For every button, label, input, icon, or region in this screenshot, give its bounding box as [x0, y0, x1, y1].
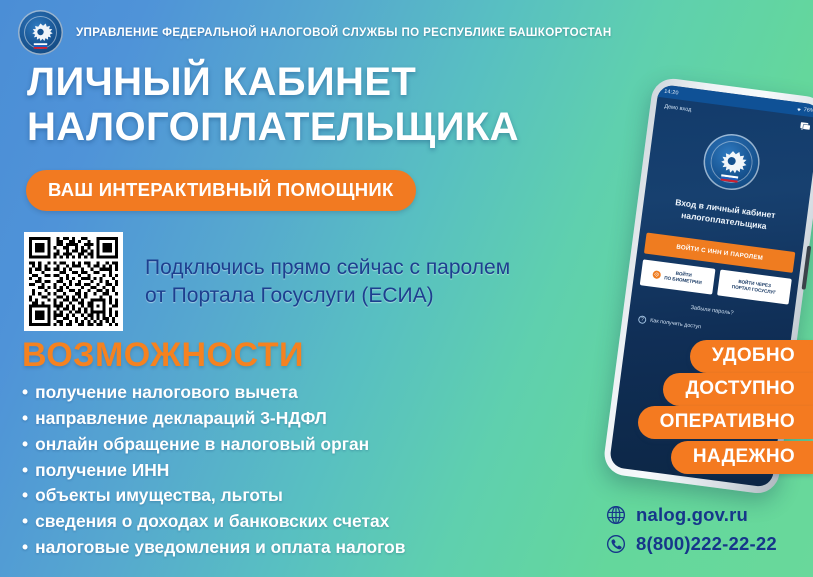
question-mark-icon: ?: [638, 315, 647, 324]
invite-text: Подключись прямо сейчас с паролем от Пор…: [145, 254, 510, 309]
list-item: получение ИНН: [22, 458, 406, 484]
website-row[interactable]: nalog.gov.ru: [606, 504, 777, 526]
phone-label: 8(800)222-22-22: [636, 533, 777, 555]
biometry-line-2: ПО БИОМЕТРИИ: [664, 275, 702, 285]
globe-icon: [606, 505, 626, 525]
header-bar: УПРАВЛЕНИЕ ФЕДЕРАЛЬНОЙ НАЛОГОВОЙ СЛУЖБЫ …: [18, 10, 612, 55]
title-line-2: НАЛОГОПЛАТЕЛЬЩИКА: [27, 105, 519, 150]
wifi-icon: [795, 105, 802, 112]
login-biometry-button[interactable]: ВОЙТИ ПО БИОМЕТРИИ: [640, 259, 715, 294]
chat-bubble-icon[interactable]: [799, 122, 811, 132]
list-item: получение налогового вычета: [22, 380, 406, 406]
page-title: ЛИЧНЫЙ КАБИНЕТ НАЛОГОПЛАТЕЛЬЩИКА: [27, 60, 519, 150]
capabilities-heading: ВОЗМОЖНОСТИ: [22, 338, 406, 372]
list-item: налоговые уведомления и оплата налогов: [22, 535, 406, 561]
fingerprint-icon: [652, 269, 662, 279]
login-gosuslugi-button[interactable]: ВОЙТИ ЧЕРЕЗ ПОРТАЛ ГОСУСЛУГ: [717, 270, 792, 305]
fns-coat-of-arms-icon: [700, 131, 763, 194]
invite-line-1: Подключись прямо сейчас с паролем: [145, 254, 510, 282]
gosuslugi-button-label: ВОЙТИ ЧЕРЕЗ ПОРТАЛ ГОСУСЛУГ: [731, 279, 777, 296]
status-time: 14:20: [664, 88, 679, 96]
benefit-tag-udobno: УДОБНО: [690, 340, 813, 373]
qr-code-icon[interactable]: [24, 232, 123, 331]
demo-login-label[interactable]: Демо вход: [664, 104, 692, 114]
status-battery: 76%: [803, 107, 813, 114]
capabilities-list: получение налогового вычета направление …: [22, 380, 406, 561]
phone-row[interactable]: 8(800)222-22-22: [606, 533, 777, 555]
biometry-button-label: ВОЙТИ ПО БИОМЕТРИИ: [664, 270, 703, 286]
list-item: объекты имущества, льготы: [22, 483, 406, 509]
phone-handset-icon: [606, 534, 626, 554]
benefit-tag-operativno: ОПЕРАТИВНО: [638, 406, 813, 439]
website-label: nalog.gov.ru: [636, 504, 748, 526]
title-line-1: ЛИЧНЫЙ КАБИНЕТ: [27, 60, 519, 105]
status-indicators: 76%: [795, 105, 813, 113]
benefit-tag-dostupno: ДОСТУПНО: [663, 373, 813, 406]
phone-power-button: [802, 246, 812, 290]
phone-login-title: Вход в личный кабинет налогоплательщика: [652, 194, 798, 236]
invite-line-2: от Портала Госуслуги (ЕСИА): [145, 282, 510, 310]
capabilities-section: ВОЗМОЖНОСТИ получение налогового вычета …: [22, 338, 406, 561]
promo-banner: УПРАВЛЕНИЕ ФЕДЕРАЛЬНОЙ НАЛОГОВОЙ СЛУЖБЫ …: [0, 0, 813, 577]
list-item: сведения о доходах и банковских счетах: [22, 509, 406, 535]
qr-invite-block: Подключись прямо сейчас с паролем от Пор…: [24, 232, 510, 331]
list-item: онлайн обращение в налоговый орган: [22, 432, 406, 458]
list-item: направление деклараций 3-НДФЛ: [22, 406, 406, 432]
fns-coat-of-arms-icon: [18, 10, 63, 55]
benefit-tag-nadezhno: НАДЕЖНО: [671, 441, 813, 474]
organization-name: УПРАВЛЕНИЕ ФЕДЕРАЛЬНОЙ НАЛОГОВОЙ СЛУЖБЫ …: [76, 26, 612, 39]
contacts-block: nalog.gov.ru 8(800)222-22-22: [606, 504, 777, 555]
how-to-get-access-label: Как получить доступ: [650, 318, 702, 331]
assistant-badge: ВАШ ИНТЕРАКТИВНЫЙ ПОМОЩНИК: [26, 170, 416, 211]
